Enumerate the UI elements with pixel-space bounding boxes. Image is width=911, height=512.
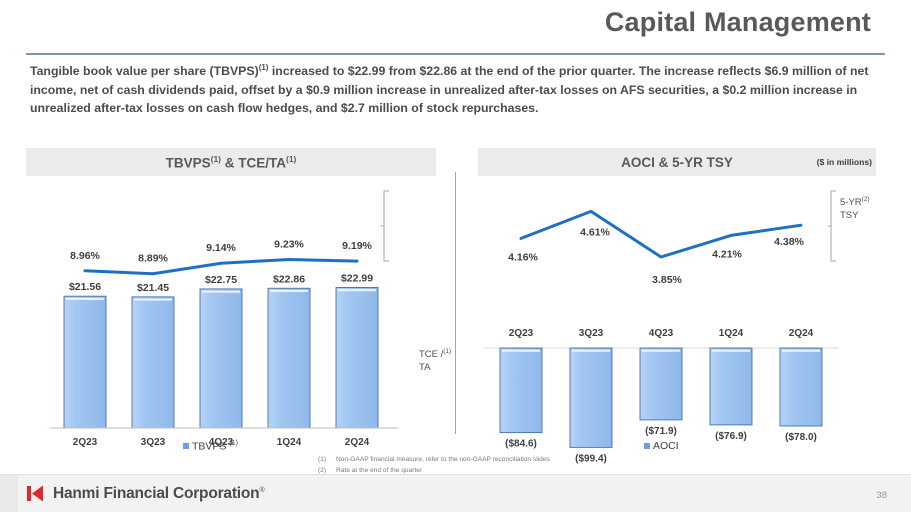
- tbvps-category-label: 2Q24: [345, 437, 370, 448]
- legend-aoci-label: AOCI: [653, 440, 679, 452]
- tsy-point-label: 4.61%: [580, 226, 610, 238]
- tceta-point-label: 9.14%: [206, 242, 236, 254]
- tbvps-category-label: 3Q23: [141, 437, 166, 448]
- bar-highlight: [270, 290, 308, 292]
- bar-highlight: [712, 350, 750, 352]
- bar-highlight: [202, 291, 240, 293]
- aoci-bar-label: ($76.9): [715, 431, 747, 442]
- aoci-bar-label: ($84.6): [505, 439, 537, 450]
- bar-highlight: [66, 298, 104, 300]
- tsy-bracket-label: 5-YR(2)TSY: [840, 196, 870, 223]
- legend-swatch-icon: [644, 443, 650, 449]
- aoci-category-label: 3Q23: [579, 328, 604, 339]
- aoci-category-label: 2Q24: [789, 328, 814, 339]
- tsy-point-label: 3.85%: [652, 274, 682, 286]
- tbvps-bar: [200, 289, 242, 428]
- aoci-bar: [640, 348, 682, 420]
- title-divider: [26, 53, 885, 55]
- panel-divider: [455, 172, 456, 434]
- aoci-bar-label: ($99.4): [575, 453, 607, 464]
- tceta-point-label: 9.23%: [274, 238, 304, 250]
- tbvps-bar: [64, 296, 106, 428]
- bar-highlight: [572, 350, 610, 352]
- tbvps-category-label: 2Q23: [73, 437, 98, 448]
- aoci-chart-svg: 4.16%4.61%3.85%4.21%4.38% 2Q233Q234Q231Q…: [478, 176, 876, 448]
- tbvps-bar: [268, 288, 310, 428]
- bar-highlight: [338, 289, 376, 291]
- bar-highlight: [642, 350, 680, 352]
- aoci-category-label: 1Q24: [719, 328, 744, 339]
- tbvps-bar-label: $21.45: [137, 282, 169, 294]
- hanmi-logo-icon: [26, 484, 46, 503]
- tsy-point-label: 4.21%: [712, 248, 742, 260]
- footnote-number: (1): [318, 455, 330, 466]
- page-number: 38: [876, 490, 887, 501]
- tbvps-bar-label: $22.86: [273, 273, 305, 285]
- tce-ta-bracket: [381, 190, 395, 262]
- tbvps-bar: [132, 297, 174, 428]
- aoci-panel-title: AOCI & 5-YR TSY: [621, 155, 733, 170]
- aoci-tsy-chart: 4.16%4.61%3.85%4.21%4.38% 2Q233Q234Q231Q…: [478, 176, 876, 448]
- legend-swatch-icon: [183, 443, 189, 449]
- tce-ta-bracket-label: TCE /(1)TA: [419, 348, 451, 375]
- tsy-bracket: [828, 190, 842, 262]
- bar-highlight: [782, 350, 820, 352]
- tsy-point-label: 4.16%: [508, 251, 538, 263]
- tbvps-panel-title: TBVPS(1) & TCE/TA(1): [166, 154, 297, 171]
- tceta-point-label: 9.19%: [342, 240, 372, 252]
- tceta-point-label: 8.89%: [138, 253, 168, 265]
- brand-name: Hanmi Financial Corporation®: [53, 485, 264, 503]
- tsy-point-label: 4.38%: [774, 236, 804, 248]
- bar-highlight: [502, 350, 540, 352]
- footnote-text: Non-GAAP financial measure, refer to the…: [336, 455, 550, 466]
- units-note: ($ in millions): [817, 157, 872, 167]
- tceta-point-label: 8.96%: [70, 250, 100, 262]
- legend-tbvps: TBVPS (1): [183, 440, 238, 453]
- footer-accent: [0, 475, 18, 512]
- tbvps-bars: [64, 287, 378, 428]
- slide: Capital Management Tangible book value p…: [0, 0, 911, 512]
- summary-paragraph: Tangible book value per share (TBVPS)(1)…: [30, 62, 880, 118]
- tbvps-bar: [336, 287, 378, 428]
- aoci-category-label: 2Q23: [509, 328, 534, 339]
- aoci-category-labels: 2Q233Q234Q231Q242Q24: [509, 328, 814, 339]
- tceta-line: [85, 259, 357, 273]
- tceta-polyline: [85, 259, 357, 273]
- aoci-category-label: 4Q23: [649, 328, 674, 339]
- aoci-bar-label: ($78.0): [785, 432, 817, 443]
- legend-aoci: AOCI: [644, 440, 679, 452]
- tbvps-bar-label: $21.56: [69, 281, 101, 293]
- tbvps-panel-header: TBVPS(1) & TCE/TA(1): [26, 148, 436, 176]
- page-title: Capital Management: [605, 8, 871, 38]
- aoci-tsy-panel: AOCI & 5-YR TSY ($ in millions) 4.16%4.6…: [478, 148, 876, 448]
- tbvps-category-label: 1Q24: [277, 437, 302, 448]
- tbvps-bar-label: $22.75: [205, 274, 237, 286]
- aoci-bar: [570, 348, 612, 447]
- tsy-line-labels: 4.16%4.61%3.85%4.21%4.38%: [508, 226, 804, 286]
- brand-lockup: Hanmi Financial Corporation®: [26, 484, 264, 503]
- tbvps-bar-label: $22.99: [341, 272, 373, 284]
- aoci-bar: [500, 348, 542, 433]
- aoci-bar-label: ($71.9): [645, 426, 677, 437]
- footnote-item: (1) Non-GAAP financial measure, refer to…: [318, 455, 550, 466]
- bar-highlight: [134, 298, 172, 300]
- aoci-bar: [780, 348, 822, 426]
- tsy-polyline: [521, 211, 801, 257]
- tsy-line: [521, 211, 801, 257]
- aoci-bar: [710, 348, 752, 425]
- legend-tbvps-label: TBVPS (1): [192, 440, 238, 453]
